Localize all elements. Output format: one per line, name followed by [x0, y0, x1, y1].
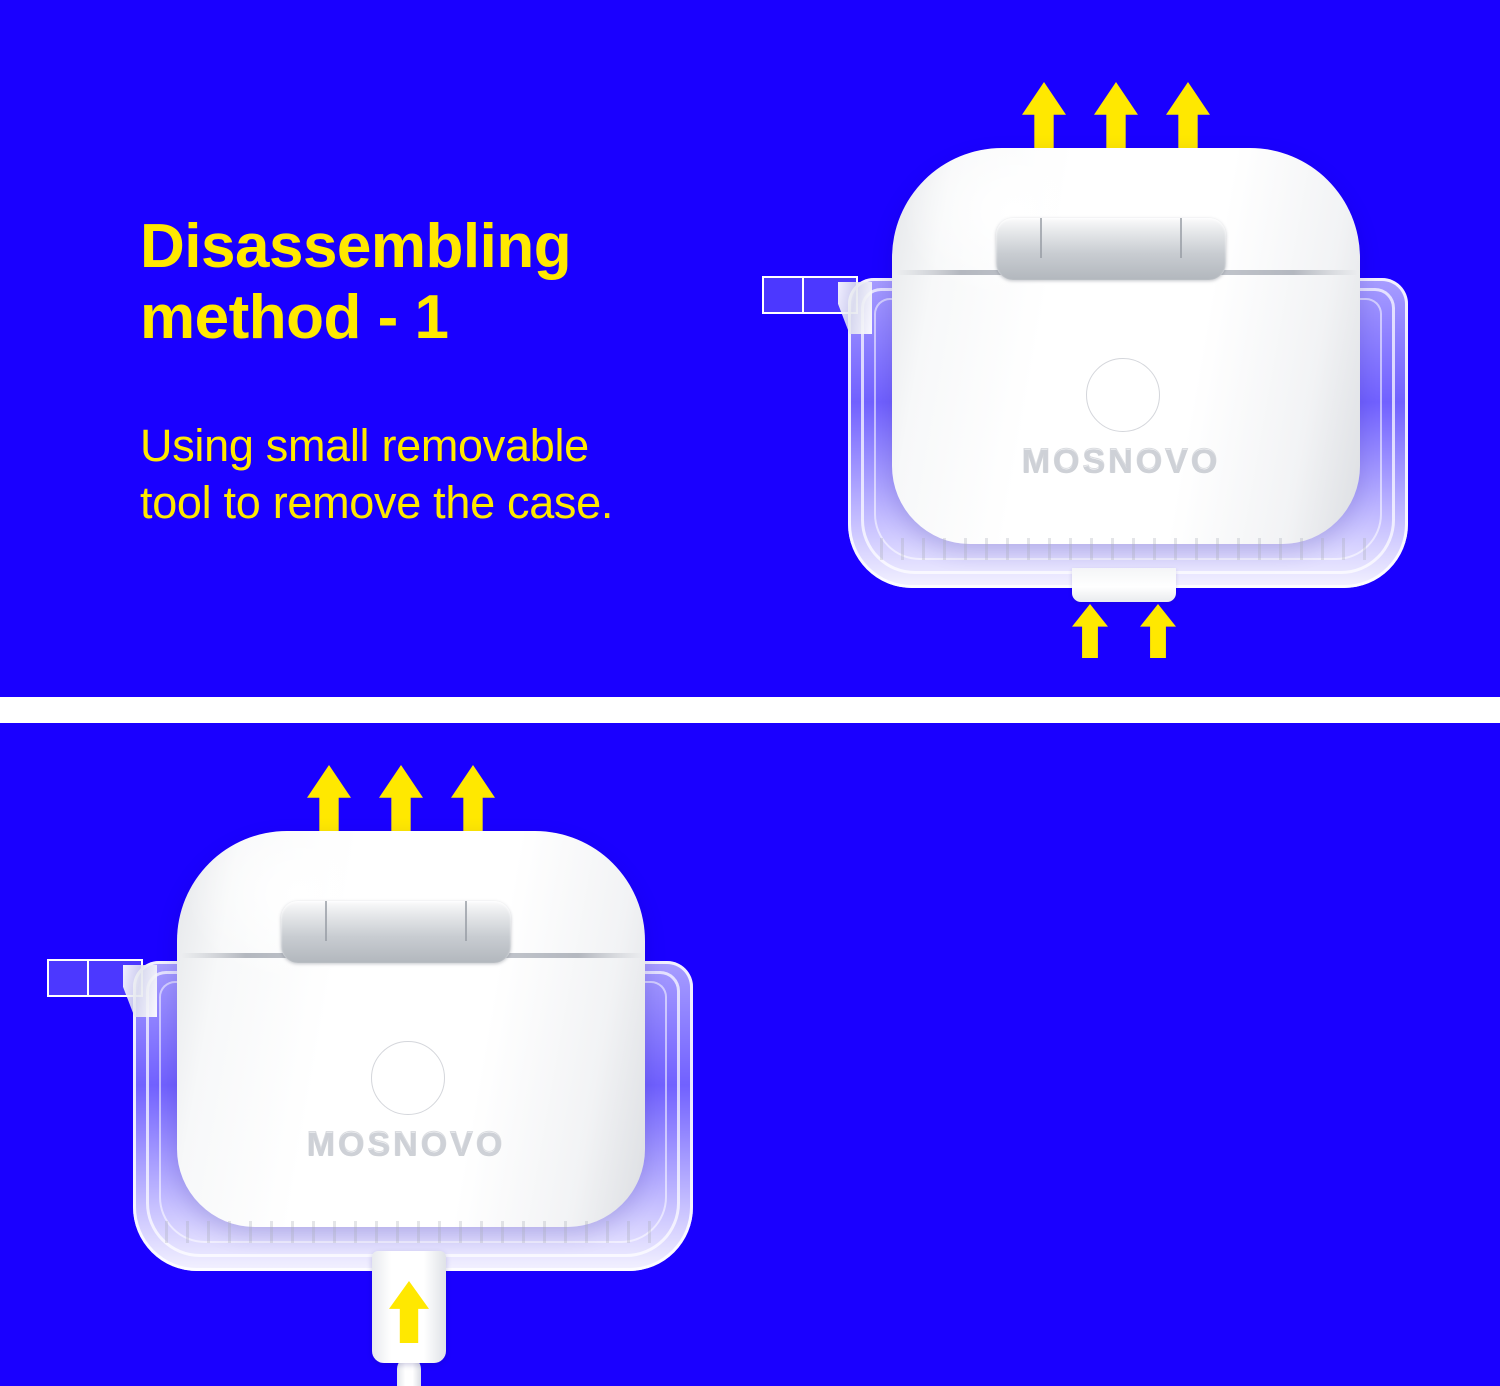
arrow-up-icon — [1140, 604, 1176, 658]
text-block-method-1: Disassembling method - 1 Using small rem… — [140, 212, 780, 532]
body-text-method-1: Using small removable tool to remove the… — [140, 417, 780, 531]
hinge-bar — [281, 901, 511, 963]
pick-blade-seam — [87, 961, 89, 995]
case-lip-texture — [165, 1221, 655, 1243]
product-illustration-method-1: MOSNOVO — [800, 70, 1420, 650]
arrow-up-icon — [389, 1281, 429, 1343]
product-illustration-method-2: MOSNOVO — [85, 753, 705, 1333]
brand-emboss-label: MOSNOVO — [281, 1125, 531, 1164]
pick-blade-seam — [802, 278, 804, 312]
case-lip-texture — [880, 538, 1370, 560]
panel-method-2: Disassembling method - 2 Using charging … — [0, 723, 1500, 1386]
hinge-notch-right — [1180, 218, 1182, 258]
instruction-infographic: Disassembling method - 1 Using small rem… — [0, 0, 1500, 1386]
setup-button-circle — [1086, 358, 1160, 432]
hinge-notch-left — [325, 901, 327, 941]
hinge-bar — [996, 218, 1226, 280]
charging-port-cutout — [1072, 568, 1176, 602]
removable-pick-tool-icon — [762, 276, 882, 334]
airpods-case-body — [892, 148, 1360, 544]
pick-neck — [838, 282, 872, 334]
brand-emboss-label: MOSNOVO — [996, 442, 1246, 481]
airpods-case-body — [177, 831, 645, 1227]
removable-pick-tool-icon — [47, 959, 167, 1017]
cable-connector — [372, 1251, 446, 1363]
arrow-up-icon — [1072, 604, 1108, 658]
charging-cable-icon — [372, 1251, 446, 1386]
heading-method-1: Disassembling method - 1 — [140, 212, 780, 353]
setup-button-circle — [371, 1041, 445, 1115]
panel-divider — [0, 697, 1500, 723]
hinge-notch-right — [465, 901, 467, 941]
hinge-notch-left — [1040, 218, 1042, 258]
panel-method-1: Disassembling method - 1 Using small rem… — [0, 0, 1500, 697]
pick-neck — [123, 965, 157, 1017]
